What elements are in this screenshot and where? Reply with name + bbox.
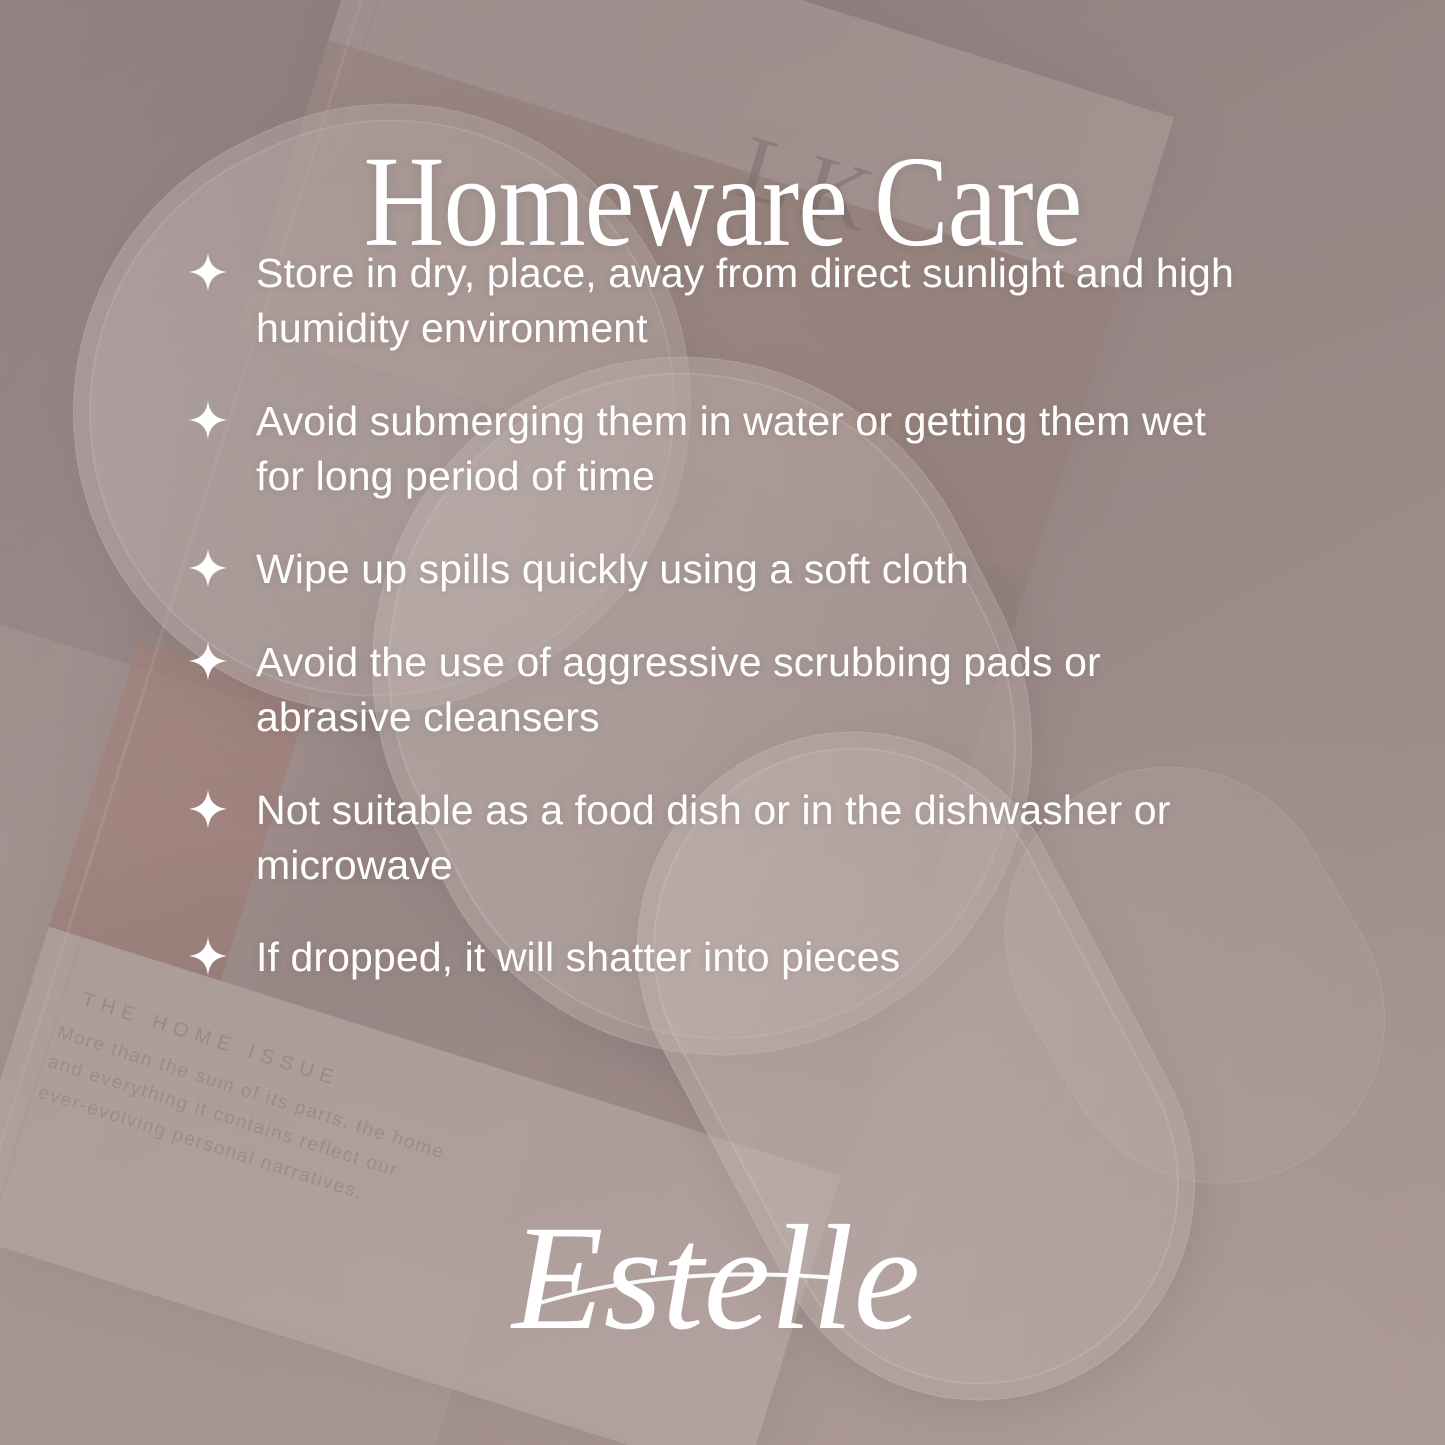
list-item-text: Wipe up spills quickly using a soft clot… (256, 542, 969, 597)
sparkle-star-icon (188, 641, 228, 681)
sparkle-star-icon (188, 548, 228, 588)
list-item-text: Avoid submerging them in water or gettin… (256, 394, 1256, 504)
care-instruction-list: Store in dry, place, away from direct su… (188, 246, 1268, 985)
sparkle-star-icon (188, 936, 228, 976)
brand-signature-text: Estelle (510, 1195, 920, 1361)
sparkle-star-icon (188, 400, 228, 440)
list-item: If dropped, it will shatter into pieces (188, 930, 1268, 985)
homeware-care-graphic: LK THE HOME ISSUE More than the sum of i… (0, 0, 1445, 1445)
list-item-text: Store in dry, place, away from direct su… (256, 246, 1256, 356)
list-item: Avoid the use of aggressive scrubbing pa… (188, 635, 1268, 745)
list-item-text: Avoid the use of aggressive scrubbing pa… (256, 635, 1256, 745)
list-item: Store in dry, place, away from direct su… (188, 246, 1268, 356)
brand-signature: Estelle (508, 1178, 938, 1368)
list-item: Not suitable as a food dish or in the di… (188, 783, 1268, 893)
overlay-content: Homeware Care Store in dry, place, away … (0, 0, 1445, 1445)
sparkle-star-icon (188, 252, 228, 292)
list-item: Wipe up spills quickly using a soft clot… (188, 542, 1268, 597)
list-item-text: If dropped, it will shatter into pieces (256, 930, 900, 985)
sparkle-star-icon (188, 789, 228, 829)
list-item: Avoid submerging them in water or gettin… (188, 394, 1268, 504)
list-item-text: Not suitable as a food dish or in the di… (256, 783, 1256, 893)
